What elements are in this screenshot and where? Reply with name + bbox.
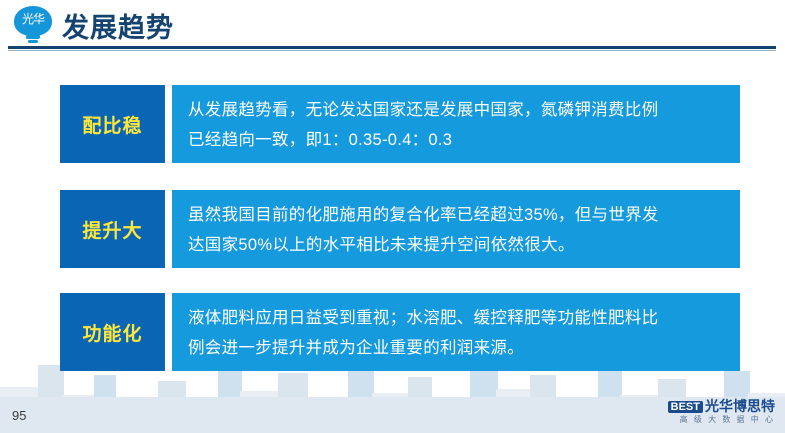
header-divider-thin [8, 50, 776, 51]
brand-logo: BEST光华博思特 高 级 大 数 据 中 心 [668, 399, 775, 425]
row-3-line-2: 例会进一步提升并成为企业重要的利润来源。 [188, 333, 724, 363]
logo-base-shape [26, 35, 40, 39]
page-title: 发展趋势 [62, 6, 174, 45]
content-row-1: 配比稳 从发展趋势看，无论发达国家还是发展中国家，氮磷钾消费比例 已经趋向一致，… [60, 85, 740, 163]
logo-base-shape-2 [28, 40, 38, 43]
slide: 光华 发展趋势 [0, 0, 785, 433]
row-2-panel: 虽然我国目前的化肥施用的复合化率已经超过35%，但与世界发 达国家50%以上的水… [172, 190, 740, 268]
header-divider [8, 46, 776, 49]
logo-bulb-text: 光华 [19, 9, 47, 29]
content-row-3: 功能化 液体肥料应用日益受到重视；水溶肥、缓控释肥等功能性肥料比 例会进一步提升… [60, 293, 740, 371]
row-3-panel: 液体肥料应用日益受到重视；水溶肥、缓控释肥等功能性肥料比 例会进一步提升并成为企… [172, 293, 740, 371]
row-1-line-1: 从发展趋势看，无论发达国家还是发展中国家，氮磷钾消费比例 [188, 95, 724, 125]
brand-subtitle: 高 级 大 数 据 中 心 [668, 416, 775, 425]
row-1-line-2: 已经趋向一致，即1：0.35-0.4：0.3 [188, 125, 724, 155]
lightbulb-logo-icon: 光华 [10, 4, 56, 44]
content-row-2: 提升大 虽然我国目前的化肥施用的复合化率已经超过35%，但与世界发 达国家50%… [60, 190, 740, 268]
row-1-tag: 配比稳 [60, 85, 165, 163]
row-3-tag: 功能化 [60, 293, 165, 371]
row-2-line-1: 虽然我国目前的化肥施用的复合化率已经超过35%，但与世界发 [188, 200, 724, 230]
page-number: 95 [12, 408, 26, 423]
row-2-line-2: 达国家50%以上的水平相比未来提升空间依然很大。 [188, 230, 724, 260]
brand-name: 光华博思特 [705, 398, 775, 414]
slide-header: 光华 发展趋势 [0, 0, 785, 48]
brand-mark: BEST [668, 401, 703, 413]
brand-name-row: BEST光华博思特 [668, 399, 775, 414]
row-2-tag: 提升大 [60, 190, 165, 268]
row-3-line-1: 液体肥料应用日益受到重视；水溶肥、缓控释肥等功能性肥料比 [188, 303, 724, 333]
row-1-panel: 从发展趋势看，无论发达国家还是发展中国家，氮磷钾消费比例 已经趋向一致，即1：0… [172, 85, 740, 163]
